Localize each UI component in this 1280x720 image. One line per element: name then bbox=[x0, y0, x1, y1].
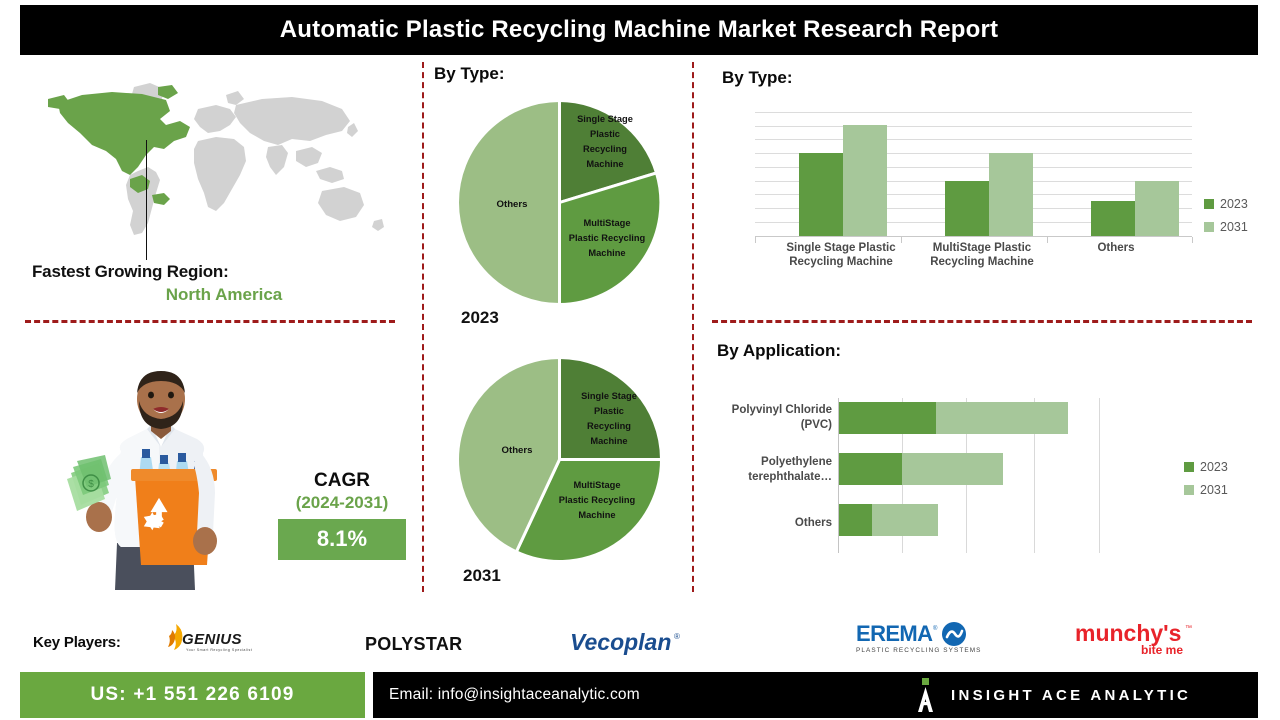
svg-text:bite me: bite me bbox=[1141, 643, 1183, 657]
pie-chart-2031: Single Stage Plastic Recycling Machine M… bbox=[452, 352, 667, 567]
application-category-pvc: Polyvinyl Chloride (PVC) bbox=[660, 403, 832, 433]
column-bar-2023-others bbox=[1091, 201, 1135, 236]
column-category-single-stage: Single Stage Plastic Recycling Machine bbox=[761, 241, 921, 270]
stacked-seg-2031-pet bbox=[902, 453, 1003, 485]
legend-item-2023-app: 2023 bbox=[1184, 460, 1228, 474]
divider-vertical-right bbox=[692, 62, 694, 592]
svg-text:Plastic Recycling: Plastic Recycling bbox=[569, 233, 646, 243]
logo-genius: GENIUS Your Smart Recycling Specialist bbox=[160, 620, 260, 658]
cagr-title: CAGR bbox=[278, 470, 406, 492]
footer-info-block: Email: info@insightaceanalytic.com INSIG… bbox=[373, 672, 1258, 718]
legend-swatch-2023 bbox=[1204, 199, 1214, 209]
column-category-others: Others bbox=[1046, 241, 1186, 255]
pie-2023-label-multistage-l1: MultiStage bbox=[583, 218, 630, 228]
logo-vecoplan: Vecoplan ® bbox=[570, 628, 695, 658]
pie-2031-label-multistage-l1: MultiStage bbox=[573, 480, 620, 490]
legend-item-2023: 2023 bbox=[1204, 197, 1248, 211]
svg-text:Recycling: Recycling bbox=[583, 144, 627, 154]
fastest-growing-region: Fastest Growing Region: North America bbox=[32, 262, 412, 305]
fastest-growing-region-label: Fastest Growing Region: bbox=[32, 262, 412, 282]
svg-text:™: ™ bbox=[1185, 625, 1192, 632]
logo-erema: EREMA ® PLASTIC RECYCLING SYSTEMS bbox=[856, 621, 1006, 657]
legend-label-2023: 2023 bbox=[1220, 197, 1248, 211]
column-bar-2031-others bbox=[1135, 181, 1179, 236]
svg-text:Plastic: Plastic bbox=[594, 406, 624, 416]
svg-text:Machine: Machine bbox=[586, 159, 623, 169]
cagr-period: (2024-2031) bbox=[278, 493, 406, 513]
stacked-bar-others bbox=[839, 504, 938, 536]
page-title: Automatic Plastic Recycling Machine Mark… bbox=[280, 16, 999, 44]
pie-chart-2023: Single Stage Plastic Recycling Machine M… bbox=[452, 95, 667, 310]
application-section-title: By Application: bbox=[717, 341, 841, 361]
column-chart-by-type bbox=[755, 112, 1195, 237]
footer-brand: INSIGHT ACE ANALYTIC bbox=[913, 672, 1191, 718]
column-bar-2023-multistage bbox=[945, 181, 989, 236]
svg-text:Machine: Machine bbox=[588, 248, 625, 258]
svg-text:Recycling: Recycling bbox=[587, 421, 631, 431]
stacked-seg-2031-pvc bbox=[936, 402, 1068, 434]
legend-swatch-2031 bbox=[1204, 222, 1214, 232]
footer-email-text: Email: info@insightaceanalytic.com bbox=[389, 686, 640, 704]
application-category-others: Others bbox=[660, 516, 832, 531]
map-pointer-line bbox=[146, 140, 147, 260]
pie-2031-label-single-stage-l1: Single Stage bbox=[581, 391, 637, 401]
stacked-bar-pvc bbox=[839, 402, 1068, 434]
recycling-person-illustration: $ bbox=[55, 365, 265, 590]
svg-text:Machine: Machine bbox=[578, 510, 615, 520]
infographic-root: Automatic Plastic Recycling Machine Mark… bbox=[0, 0, 1280, 720]
cagr-value-badge: 8.1% bbox=[278, 519, 406, 560]
logo-munchys: munchy's ™ bite me bbox=[1075, 620, 1215, 658]
legend-label-2023-app: 2023 bbox=[1200, 460, 1228, 474]
footer-brand-text: INSIGHT ACE ANALYTIC bbox=[951, 687, 1191, 704]
column-bar-2031-multistage bbox=[989, 153, 1033, 236]
column-section-title: By Type: bbox=[722, 68, 793, 88]
stacked-bar-chart-by-application bbox=[838, 398, 1100, 553]
insight-ace-logo-icon bbox=[913, 678, 939, 712]
stacked-seg-2023-pet bbox=[839, 453, 902, 485]
application-chart-legend: 2023 2031 bbox=[1184, 460, 1228, 506]
application-category-pet: Polyethylene terephthalate… bbox=[660, 455, 832, 485]
svg-text:Vecoplan: Vecoplan bbox=[570, 629, 671, 655]
logo-polystar: POLYSTAR bbox=[365, 632, 480, 656]
stacked-bar-pet bbox=[839, 453, 1003, 485]
pie-2023-label-others: Others bbox=[497, 199, 528, 210]
pie-2023-label-single-stage-l1: Single Stage bbox=[577, 114, 633, 124]
cagr-block: CAGR (2024-2031) 8.1% bbox=[278, 470, 406, 560]
stacked-seg-2023-others bbox=[839, 504, 872, 536]
column-bar-2023-single-stage bbox=[799, 153, 843, 236]
pie-2023-year: 2023 bbox=[461, 308, 499, 328]
svg-text:Plastic: Plastic bbox=[590, 129, 620, 139]
stacked-seg-2023-pvc bbox=[839, 402, 936, 434]
footer-phone-text: US: +1 551 226 6109 bbox=[91, 684, 295, 706]
legend-item-2031-app: 2031 bbox=[1184, 483, 1228, 497]
column-bar-2031-single-stage bbox=[843, 125, 887, 236]
footer-phone-block: US: +1 551 226 6109 bbox=[20, 672, 365, 718]
fastest-growing-region-value: North America bbox=[32, 285, 412, 305]
column-chart-legend: 2023 2031 bbox=[1204, 197, 1248, 243]
pie-2031-label-others: Others bbox=[502, 445, 533, 456]
divider-vertical-left bbox=[422, 62, 424, 592]
legend-label-2031: 2031 bbox=[1220, 220, 1248, 234]
legend-swatch-2031-app bbox=[1184, 485, 1194, 495]
column-category-multistage: MultiStage Plastic Recycling Machine bbox=[902, 241, 1062, 270]
legend-item-2031: 2031 bbox=[1204, 220, 1248, 234]
legend-swatch-2023-app bbox=[1184, 462, 1194, 472]
divider-horizontal-right bbox=[712, 320, 1252, 323]
svg-text:GENIUS: GENIUS bbox=[182, 631, 242, 648]
svg-text:PLASTIC RECYCLING SYSTEMS: PLASTIC RECYCLING SYSTEMS bbox=[856, 647, 982, 654]
svg-text:EREMA: EREMA bbox=[856, 621, 933, 646]
pie-2031-year: 2031 bbox=[463, 566, 501, 586]
svg-text:Your Smart Recycling Specialis: Your Smart Recycling Specialist bbox=[186, 648, 252, 652]
divider-horizontal-left bbox=[25, 320, 395, 323]
legend-label-2031-app: 2031 bbox=[1200, 483, 1228, 497]
svg-text:®: ® bbox=[674, 632, 680, 641]
svg-text:Plastic Recycling: Plastic Recycling bbox=[559, 495, 636, 505]
svg-text:POLYSTAR: POLYSTAR bbox=[365, 634, 462, 654]
pie-section-title: By Type: bbox=[434, 64, 505, 84]
svg-text:®: ® bbox=[933, 625, 938, 632]
world-map bbox=[30, 75, 405, 250]
svg-text:Machine: Machine bbox=[590, 436, 627, 446]
header-bar: Automatic Plastic Recycling Machine Mark… bbox=[20, 5, 1258, 55]
svg-text:$: $ bbox=[88, 479, 94, 490]
key-players-label: Key Players: bbox=[33, 634, 121, 651]
stacked-seg-2031-others bbox=[872, 504, 938, 536]
